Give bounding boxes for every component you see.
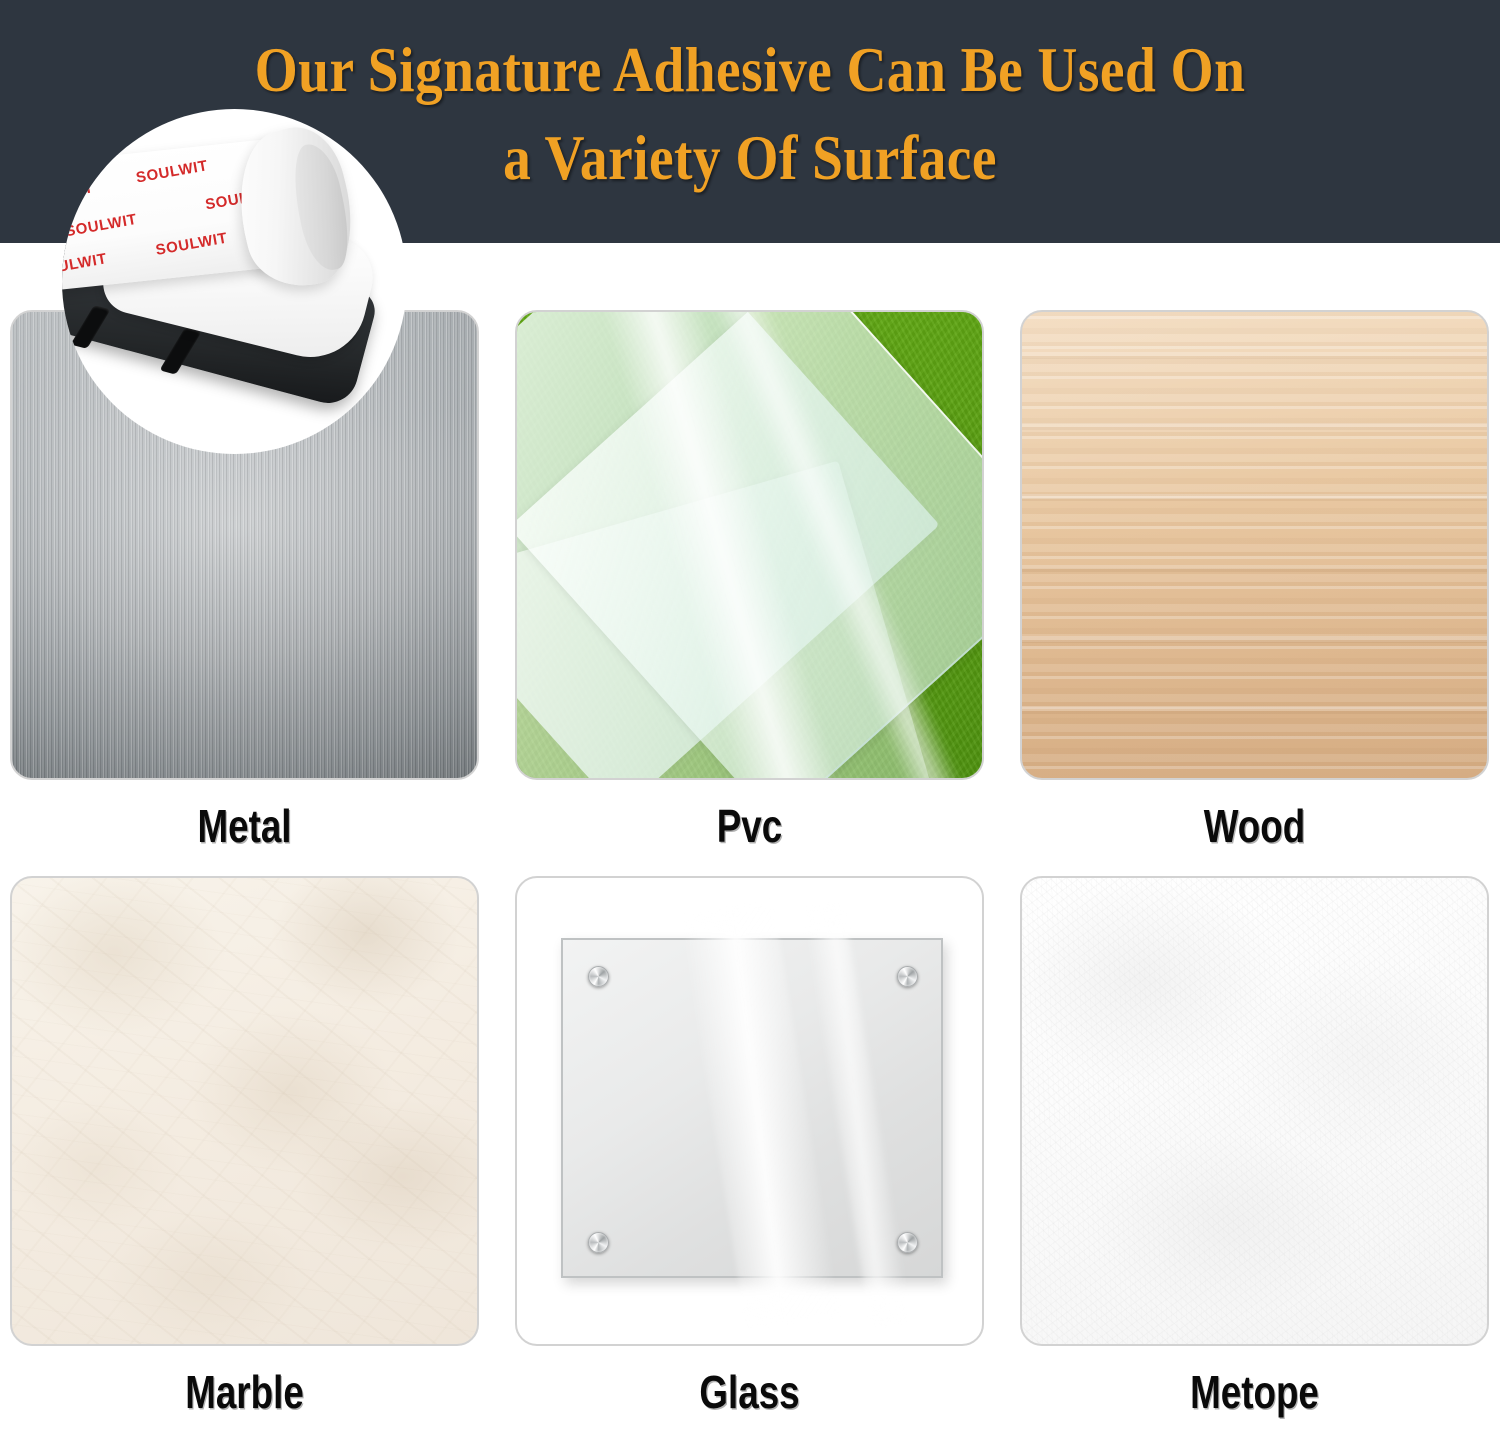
- surface-label-wood: Wood: [1067, 798, 1442, 854]
- brand-text: SOULWIT: [64, 211, 138, 240]
- brand-text: SOULWIT: [154, 230, 228, 259]
- marble-veining-overlay: [12, 878, 477, 1344]
- inset-scene: SOULWIT SOULWIT SOULWIT SOULWIT SOULWIT …: [62, 109, 407, 454]
- brand-text: SOULWIT: [62, 250, 108, 279]
- surface-cell-metope: Metope: [1020, 876, 1489, 1420]
- surface-swatch-metope: [1020, 876, 1489, 1346]
- surface-label-glass: Glass: [562, 1364, 937, 1420]
- product-closeup-inset: SOULWIT SOULWIT SOULWIT SOULWIT SOULWIT …: [62, 109, 407, 454]
- surface-cell-pvc: Pvc: [515, 310, 984, 854]
- surface-swatch-marble: [10, 876, 479, 1346]
- surface-label-marble: Marble: [57, 1364, 432, 1420]
- surface-label-pvc: Pvc: [562, 798, 937, 854]
- glass-panel: [561, 938, 943, 1278]
- infographic-page: Our Signature Adhesive Can Be Used On a …: [0, 0, 1500, 1437]
- standoff-screw-icon: [588, 966, 609, 987]
- plaster-texture-overlay: [1022, 878, 1487, 1344]
- wood-sheen-overlay: [1022, 312, 1487, 778]
- surface-cell-marble: Marble: [10, 876, 479, 1420]
- surface-grid: Metal Pvc Wood Marbl: [10, 310, 1490, 1420]
- standoff-screw-icon: [897, 1232, 918, 1253]
- page-title-line-1: Our Signature Adhesive Can Be Used On: [90, 26, 1410, 114]
- standoff-screw-icon: [897, 966, 918, 987]
- surface-label-metope: Metope: [1067, 1364, 1442, 1420]
- brand-text: SOULWIT: [135, 157, 209, 186]
- surface-swatch-glass: [515, 876, 984, 1346]
- surface-cell-glass: Glass: [515, 876, 984, 1420]
- surface-swatch-wood: [1020, 310, 1489, 780]
- surface-swatch-pvc: [515, 310, 984, 780]
- standoff-screw-icon: [588, 1232, 609, 1253]
- brand-text: SOULWIT: [62, 179, 95, 208]
- surface-label-metal: Metal: [57, 798, 432, 854]
- surface-cell-wood: Wood: [1020, 310, 1489, 854]
